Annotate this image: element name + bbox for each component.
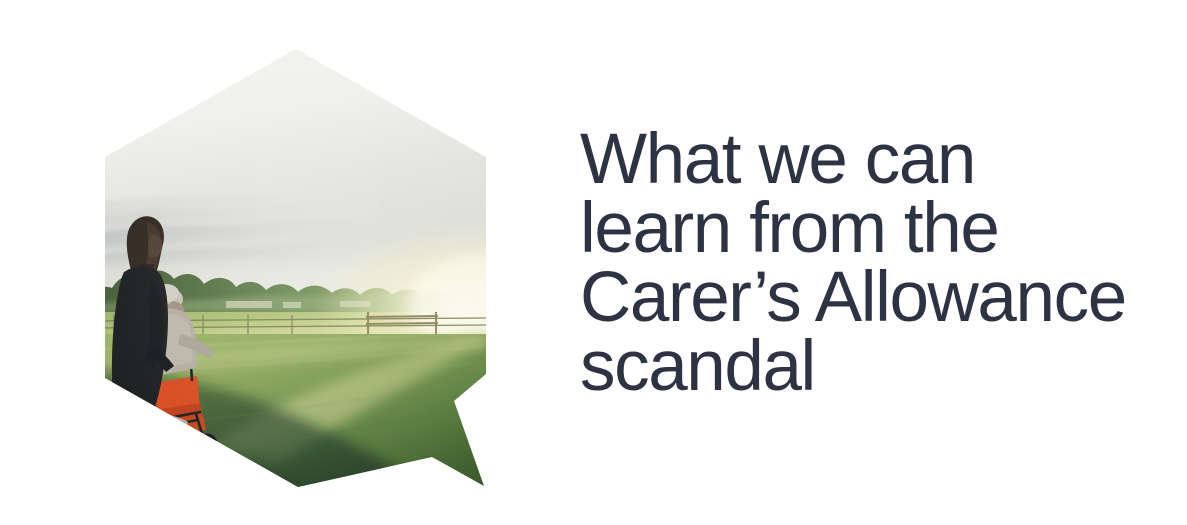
page-title: What we can learn from the Carer’s Allow… (580, 125, 1180, 401)
film-grain (40, 16, 540, 525)
hero-photo (40, 16, 540, 525)
article-header-page: What we can learn from the Carer’s Allow… (0, 0, 1187, 525)
hero-image-figure (40, 16, 540, 525)
headline-line-3: Carer’s Allowance (580, 263, 1180, 332)
wheelchair-wheel-rear (135, 438, 159, 462)
wheelchair-wheel-mid (179, 437, 197, 455)
hero-photo-content (40, 16, 540, 525)
headline-line-4: scandal (580, 332, 1180, 401)
headline-line-1: What we can (580, 125, 1180, 194)
headline-line-2: learn from the (580, 194, 1180, 263)
